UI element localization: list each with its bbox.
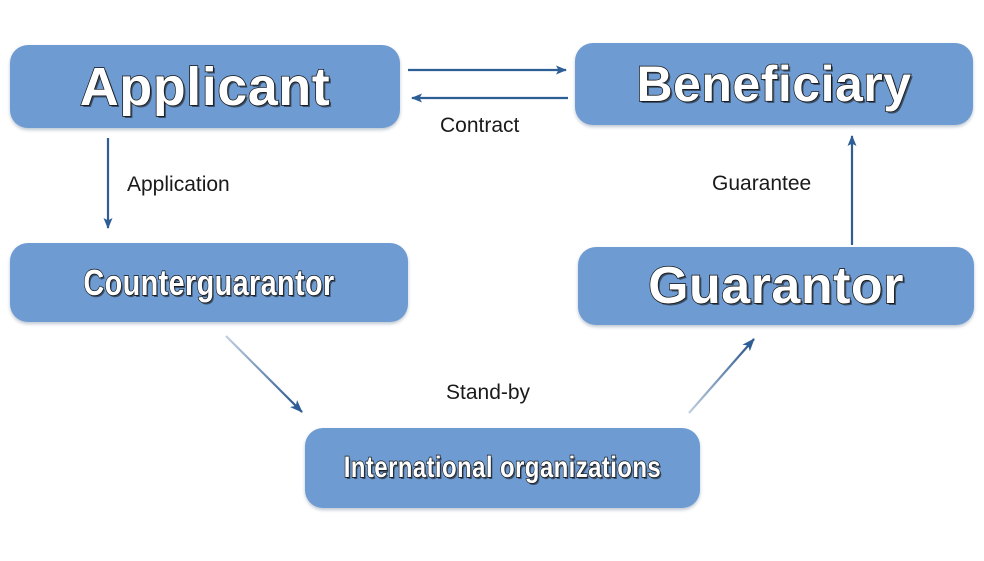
edge-label-guarantee: Guarantee [712,172,811,196]
node-beneficiary-label: Beneficiary [636,55,911,113]
node-international-organizations[interactable]: International organizations [305,428,700,508]
node-counterguarantor-label: Counterguarantor [83,262,334,304]
node-applicant-label: Applicant [80,56,331,118]
node-guarantor-label: Guarantor [648,256,904,316]
node-international-organizations-label: International organizations [344,451,662,485]
connector-standby-right [689,339,754,413]
connector-standby-left [226,336,302,412]
edge-label-standby: Stand-by [446,381,530,405]
node-beneficiary[interactable]: Beneficiary [575,43,973,125]
edge-label-contract: Contract [440,114,519,138]
node-applicant[interactable]: Applicant [10,45,400,128]
node-guarantor[interactable]: Guarantor [578,247,974,325]
edge-label-application: Application [127,173,230,197]
diagram-canvas: Applicant Beneficiary Counterguarantor G… [0,0,984,561]
node-counterguarantor[interactable]: Counterguarantor [10,243,408,322]
